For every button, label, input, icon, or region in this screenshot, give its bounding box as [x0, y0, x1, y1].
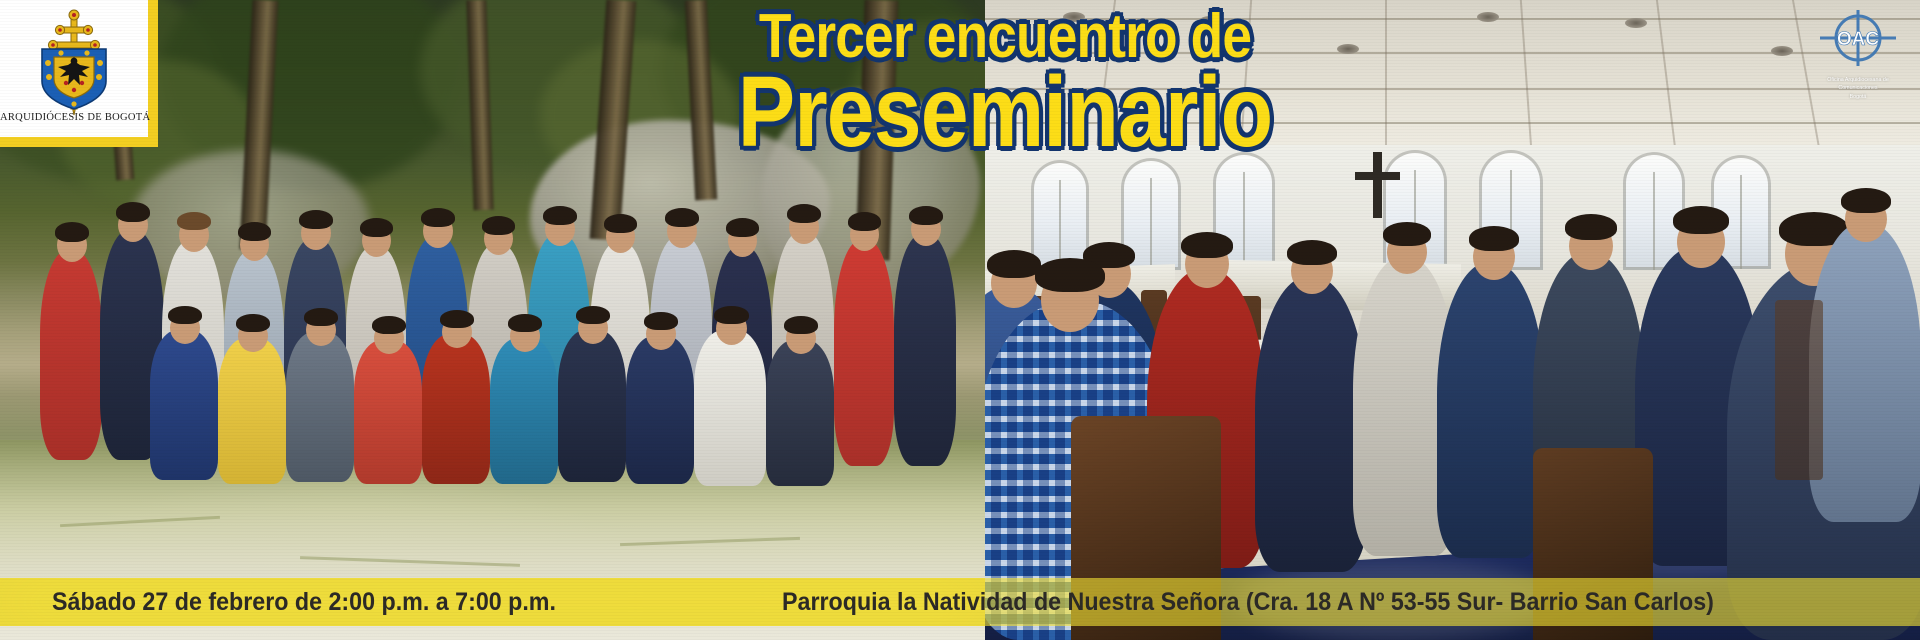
- wall-crucifix: [1373, 152, 1382, 218]
- svg-text:OAC: OAC: [1837, 29, 1880, 50]
- footer-venue: Parroquia la Natividad de Nuestra Señora…: [782, 578, 1714, 626]
- oac-logo: OAC Oficina Arquidiocesana de Comunicaci…: [1812, 8, 1904, 100]
- oac-mark-icon: OAC: [1812, 8, 1904, 70]
- event-banner: ARQUIDIÓCESIS DE BOGOTÁ OAC Oficina Arqu…: [0, 0, 1920, 640]
- oac-caption-line1: Oficina Arquidiocesana de: [1812, 77, 1904, 83]
- archdiocese-caption: ARQUIDIÓCESIS DE BOGOTÁ: [0, 112, 148, 123]
- footer-date-time: Sábado 27 de febrero de 2:00 p.m. a 7:00…: [52, 578, 556, 626]
- oac-caption-line3: Bogotá: [1812, 94, 1904, 100]
- photo-parish-hall: [985, 0, 1920, 640]
- arquidiocesis-de-bogota-logo: ARQUIDIÓCESIS DE BOGOTÁ: [0, 0, 148, 137]
- archdiocese-crest-icon: [28, 5, 120, 122]
- logo-rule-right: [148, 0, 158, 147]
- oac-caption-line2: Comunicaciones: [1812, 85, 1904, 91]
- logo-rule-bottom: [0, 137, 158, 147]
